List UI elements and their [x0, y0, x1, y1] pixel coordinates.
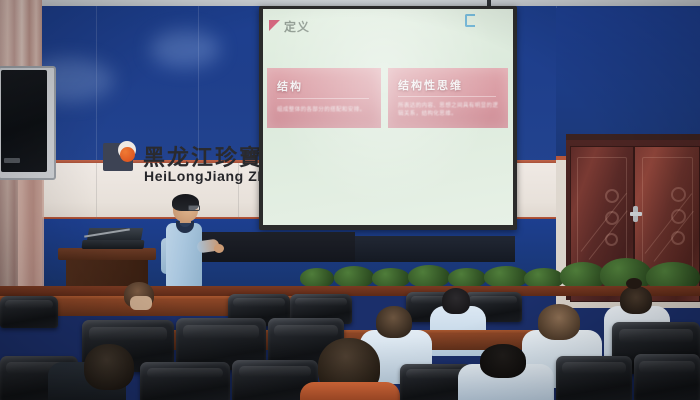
- audience-head: [480, 344, 526, 378]
- stage-plant: [300, 268, 334, 288]
- slide-title: 定义: [284, 18, 310, 35]
- seat[interactable]: [556, 356, 632, 400]
- stage-plant: [372, 268, 410, 288]
- seat[interactable]: [0, 296, 58, 328]
- audience-head: [442, 288, 470, 314]
- stage-edge: [0, 286, 700, 296]
- stage-plant: [408, 265, 450, 288]
- stage-plant: [448, 268, 486, 288]
- speaker-badge: [4, 158, 20, 163]
- stage-table-right: [355, 236, 515, 262]
- slide-box-heading: 结构性思维: [398, 77, 463, 93]
- audience-head: [84, 344, 134, 390]
- logo-dot-icon: [120, 147, 135, 162]
- wall-gloss: [150, 30, 220, 68]
- stage-plant: [484, 266, 528, 288]
- presenter-hand: [214, 244, 224, 253]
- slide-box-body: 组成整体的各部分的搭配和安排。: [277, 106, 373, 114]
- slide-title-triangle-icon: [269, 20, 280, 31]
- stage-plant: [334, 266, 374, 288]
- audience-head: [376, 306, 412, 338]
- door-handle[interactable]: [630, 212, 642, 216]
- band-seam: [96, 163, 97, 219]
- podium-top: [58, 248, 156, 260]
- seat[interactable]: [634, 354, 700, 400]
- presenter-glasses-icon: [188, 205, 200, 211]
- slide-corner-logo-icon: [465, 14, 475, 27]
- slide-box-structural-thinking: 结构性思维 所表达的内容、思想之间具有明显的逻辑关系，结构化思维。: [388, 68, 508, 128]
- slide-box-heading: 结构: [277, 78, 303, 94]
- slide-box-body: 所表达的内容、思想之间具有明显的逻辑关系，结构化思维。: [398, 102, 500, 118]
- conference-room-photo: 黑龙江珍寶嶋 HeiLongJiang ZBD blue-c-mark 定义 结…: [0, 0, 700, 400]
- seat[interactable]: [140, 362, 230, 400]
- audience-body: [300, 382, 400, 400]
- audience-face: [130, 296, 152, 310]
- audience-head: [620, 286, 652, 314]
- audience-head: [538, 304, 580, 340]
- audience-hair-bun: [626, 278, 642, 289]
- laptop-keyboard[interactable]: [82, 240, 145, 249]
- wall-speaker-icon: [1, 70, 47, 172]
- slide-box-structure: 结构 组成整体的各部分的搭配和安排。: [267, 68, 381, 128]
